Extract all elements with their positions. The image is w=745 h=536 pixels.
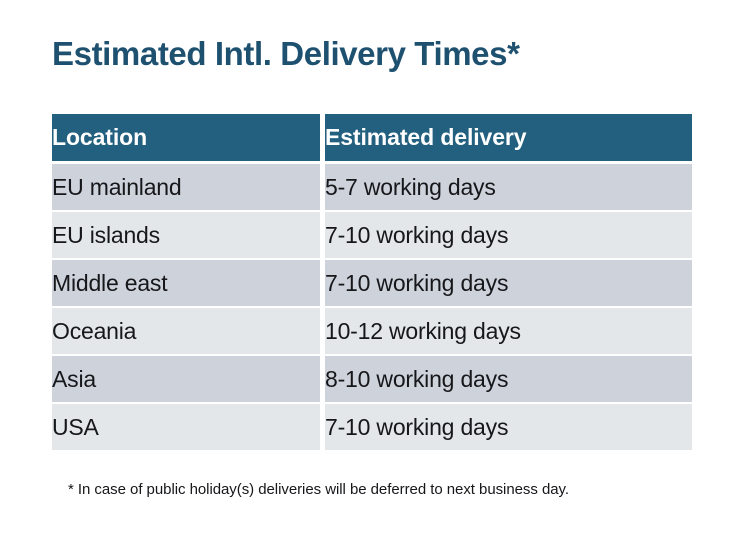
estimated-delivery-times-table: Location Estimated delivery EU mainland … — [52, 114, 692, 452]
cell-delivery: 8-10 working days — [325, 356, 692, 404]
table-row: USA 7-10 working days — [52, 404, 692, 452]
cell-location: EU islands — [52, 212, 320, 260]
cell-delivery: 5-7 working days — [325, 164, 692, 212]
table-row: Middle east 7-10 working days — [52, 260, 692, 308]
cell-delivery: 7-10 working days — [325, 260, 692, 308]
table-row: Asia 8-10 working days — [52, 356, 692, 404]
table-row: EU mainland 5-7 working days — [52, 164, 692, 212]
cell-location: USA — [52, 404, 320, 452]
cell-delivery: 7-10 working days — [325, 212, 692, 260]
cell-delivery: 7-10 working days — [325, 404, 692, 452]
cell-location: Asia — [52, 356, 320, 404]
delivery-times-page: Estimated Intl. Delivery Times* Location… — [0, 0, 745, 536]
page-title: Estimated Intl. Delivery Times* — [52, 35, 520, 73]
table-row: EU islands 7-10 working days — [52, 212, 692, 260]
cell-location: Middle east — [52, 260, 320, 308]
table-header: Location Estimated delivery — [52, 114, 692, 161]
cell-delivery: 10-12 working days — [325, 308, 692, 356]
cell-location: EU mainland — [52, 164, 320, 212]
table-header-row: Location Estimated delivery — [52, 114, 692, 161]
table-footnote: * In case of public holiday(s) deliverie… — [68, 481, 569, 498]
column-header-estimated-delivery: Estimated delivery — [325, 114, 692, 161]
table-row: Oceania 10-12 working days — [52, 308, 692, 356]
column-header-location: Location — [52, 114, 320, 161]
table-body: EU mainland 5-7 working days EU islands … — [52, 161, 692, 452]
cell-location: Oceania — [52, 308, 320, 356]
